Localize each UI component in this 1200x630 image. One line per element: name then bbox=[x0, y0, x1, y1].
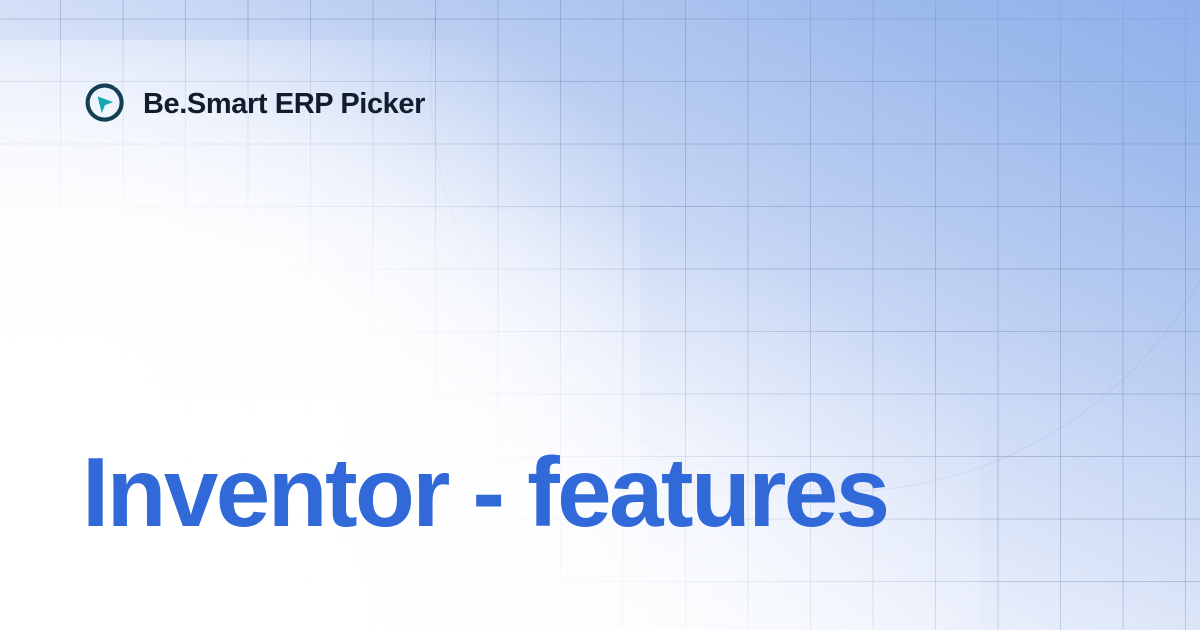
brand-lockup: Be.Smart ERP Picker bbox=[82, 82, 425, 126]
brand-name: Be.Smart ERP Picker bbox=[143, 90, 425, 119]
page-title: Inventor - features bbox=[82, 441, 1122, 545]
besmart-cursor-ring-logo-icon bbox=[82, 82, 126, 126]
og-share-card: Be.Smart ERP Picker Inventor - features bbox=[0, 0, 1200, 630]
